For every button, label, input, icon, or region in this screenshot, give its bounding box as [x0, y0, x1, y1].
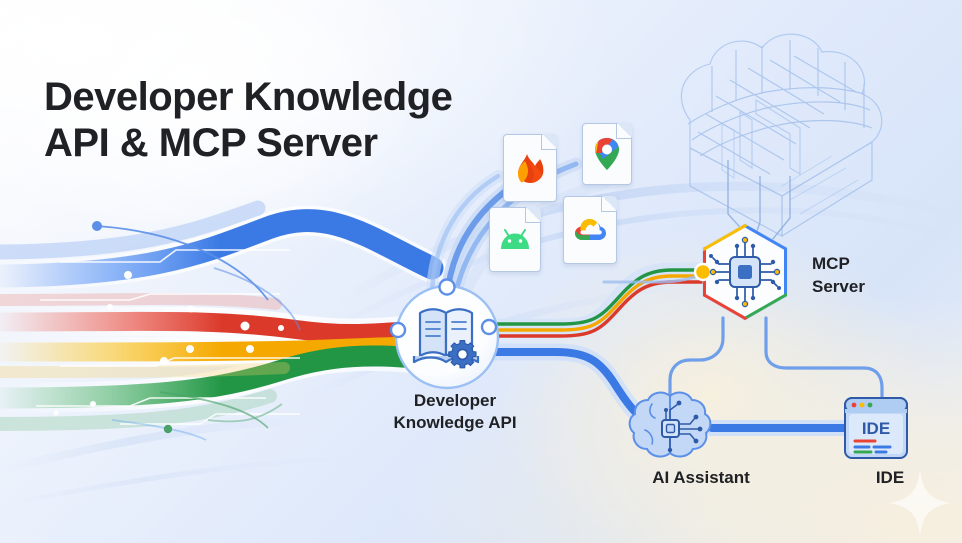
page-title: Developer Knowledge API & MCP Server: [44, 74, 564, 167]
label-mcp-line-2: Server: [812, 276, 942, 299]
label-api-line-1: Developer: [340, 390, 570, 412]
illustration-canvas: IDE Developer Knowledge API & MCP Server…: [0, 0, 962, 543]
label-mcp-line-1: MCP: [812, 253, 942, 276]
label-ide: IDE: [820, 468, 960, 488]
page-title-line-2: API & MCP Server: [44, 120, 564, 166]
label-mcp-server: MCP Server: [812, 253, 942, 299]
page-title-line-1: Developer Knowledge: [44, 75, 452, 119]
label-api-line-2: Knowledge API: [340, 412, 570, 434]
label-developer-knowledge-api: Developer Knowledge API: [340, 390, 570, 435]
label-ai-assistant: AI Assistant: [616, 468, 786, 488]
